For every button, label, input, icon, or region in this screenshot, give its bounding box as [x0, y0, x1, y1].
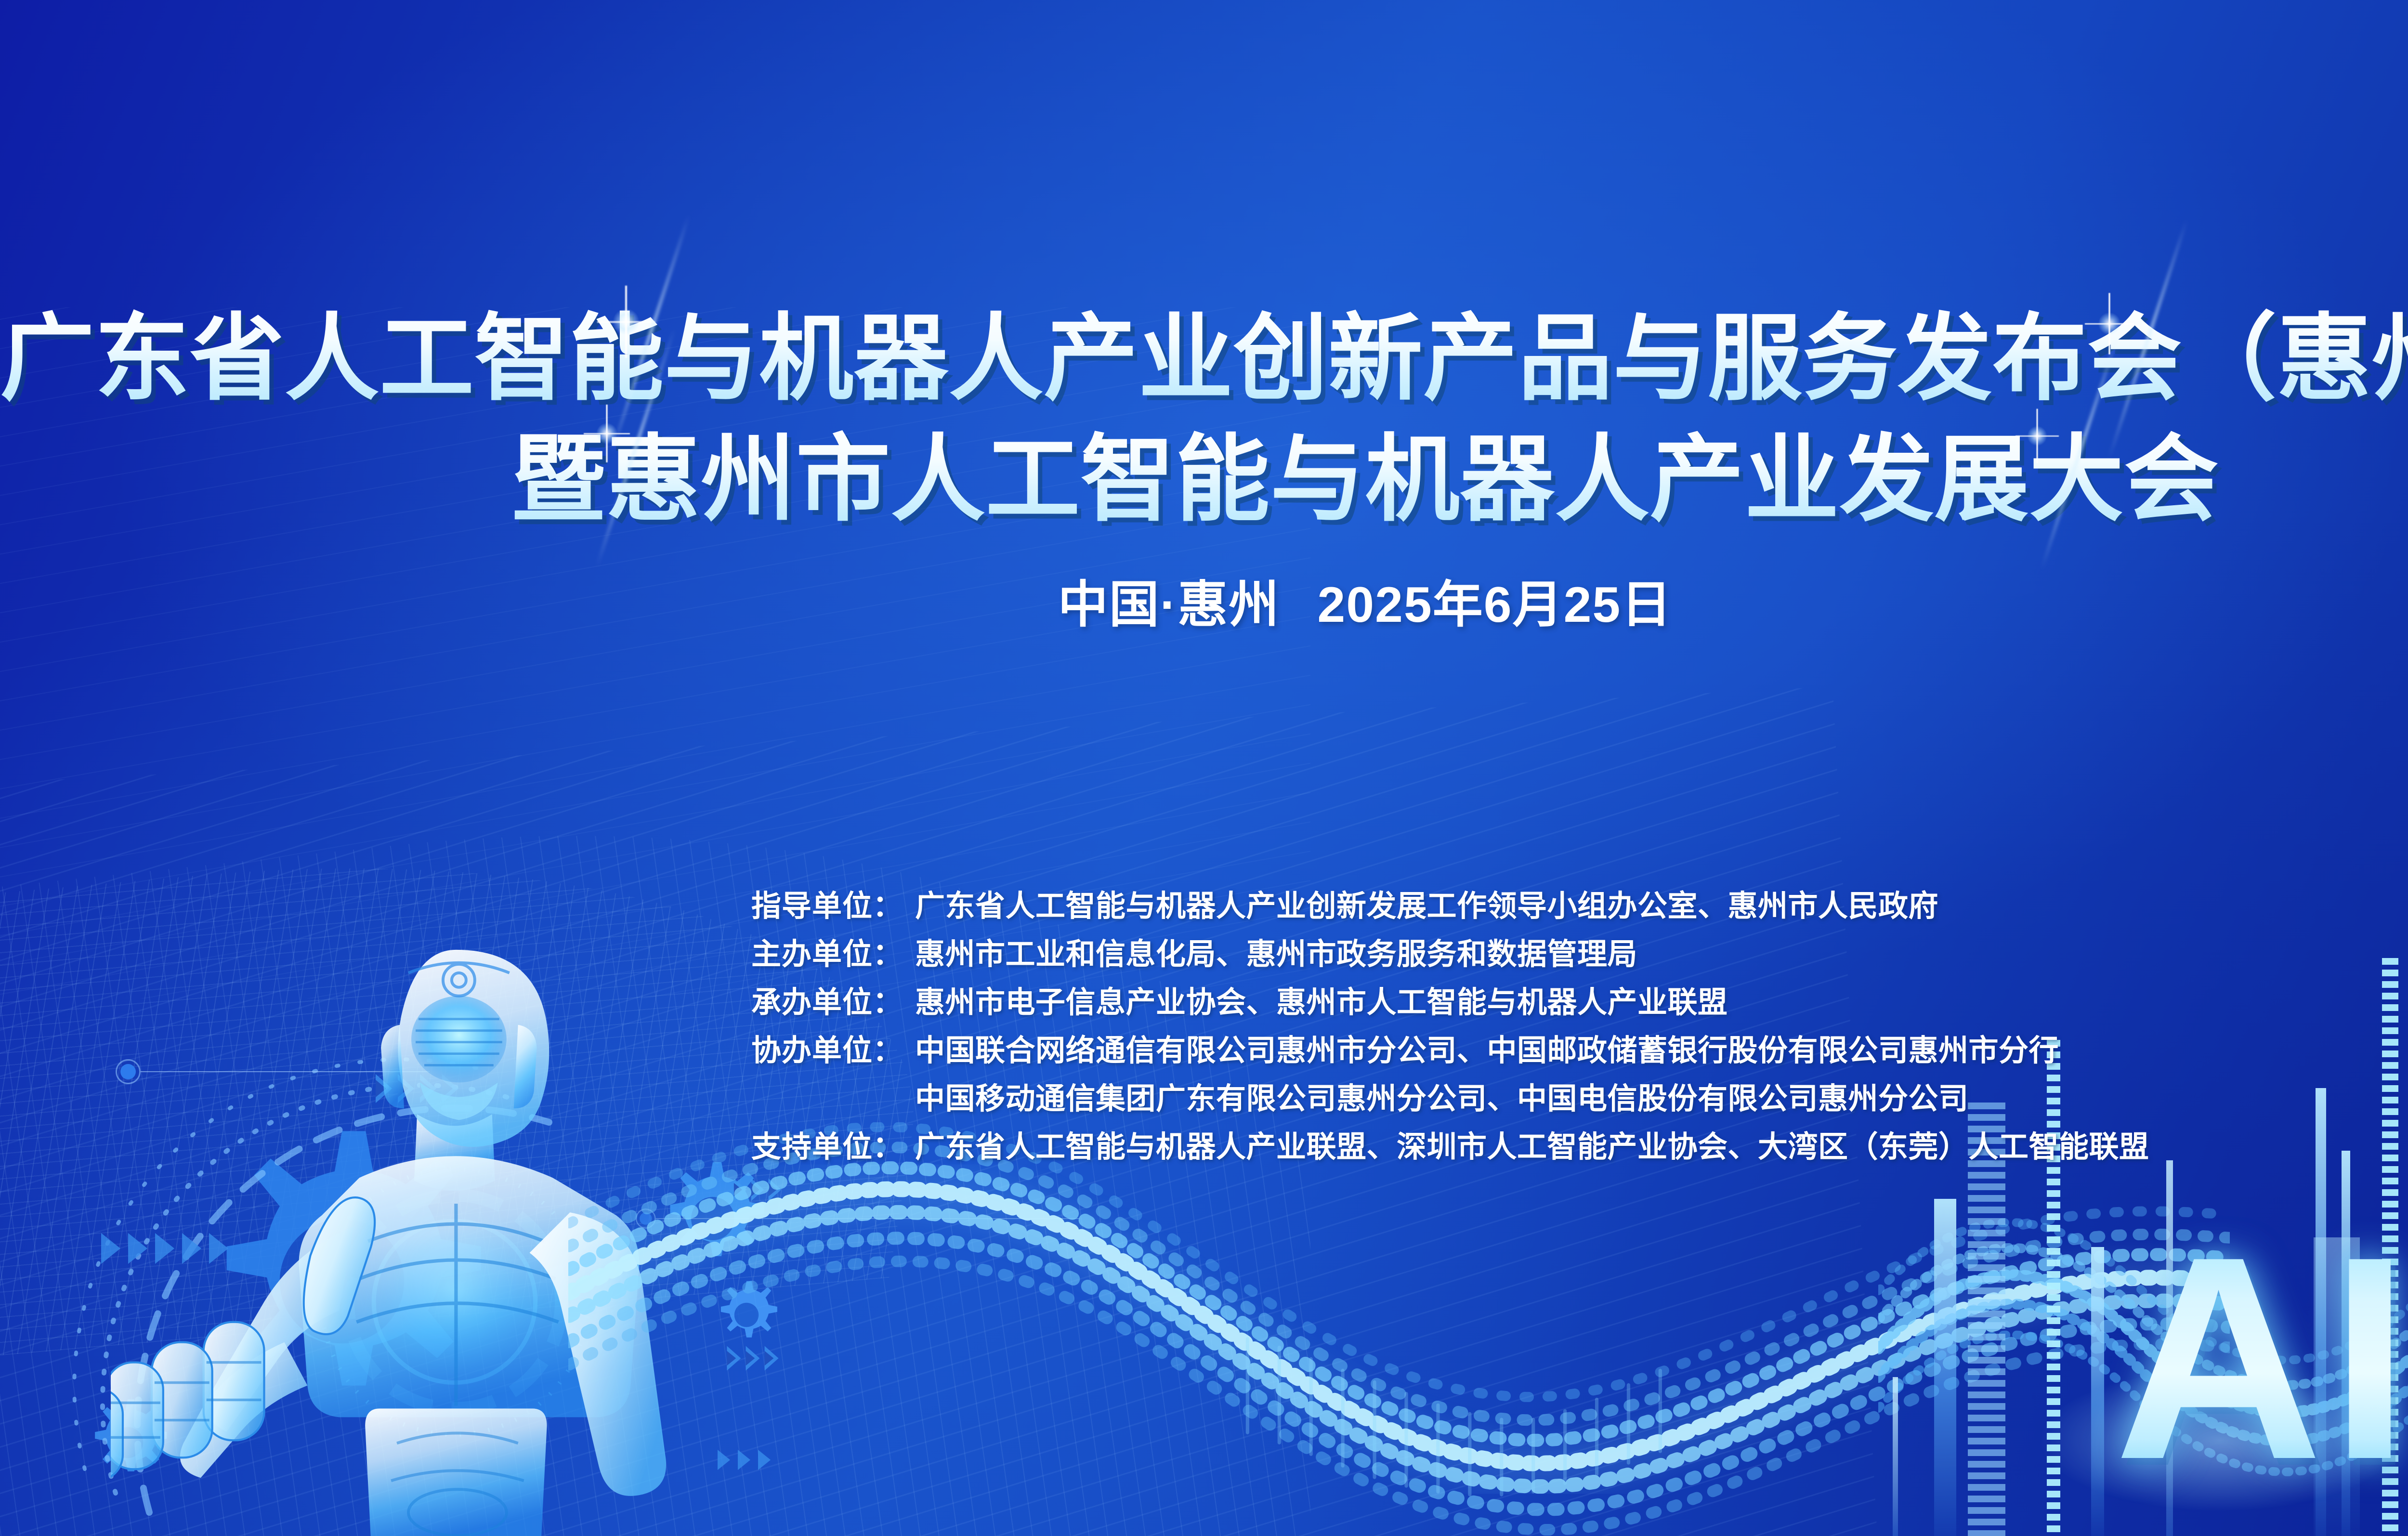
- eq-bar: [2091, 1247, 2104, 1536]
- organizer-row: 协办单位： 中国联合网络通信有限公司惠州市分公司、中国邮政储蓄银行股份有限公司惠…: [751, 1026, 2149, 1074]
- organizer-label: 支持单位：: [751, 1122, 896, 1166]
- organizer-value: 惠州市工业和信息化局、惠州市政务服务和数据管理局: [915, 930, 1637, 973]
- organizer-row: 支持单位： 广东省人工智能与机器人产业联盟、深圳市人工智能产业协会、大湾区（东莞…: [751, 1122, 2149, 1170]
- dotted-arc-decor: [58, 1031, 636, 1536]
- headline-line-1: 广东省人工智能与机器人产业创新产品与服务发布会（惠州专场）: [0, 299, 2408, 420]
- organizer-row: 承办单位： 惠州市电子信息产业协会、惠州市人工智能与机器人产业联盟: [751, 978, 2149, 1026]
- ai-logo: AI: [2114, 1214, 2408, 1503]
- organizer-row: 指导单位： 广东省人工智能与机器人产业创新发展工作领导小组办公室、惠州市人民政府: [751, 881, 2149, 930]
- organizer-label: 主办单位：: [751, 930, 896, 973]
- chevron-arrows-left: [734, 1179, 781, 1201]
- organizer-label: 承办单位：: [751, 978, 896, 1021]
- headline-line-2: 暨惠州市人工智能与机器人产业发展大会: [0, 420, 2408, 540]
- chevron-arrows-mid: [727, 1346, 778, 1371]
- organizer-list: 指导单位： 广东省人工智能与机器人产业创新发展工作领导小组办公室、惠州市人民政府…: [751, 881, 2149, 1170]
- organizer-row: 主办单位： 惠州市工业和信息化局、惠州市政务服务和数据管理局: [751, 930, 2149, 978]
- event-subtitle: 中国·惠州2025年6月25日: [0, 564, 2408, 636]
- organizer-label: 协办单位：: [751, 1026, 896, 1069]
- eq-bar: [1893, 1377, 1898, 1536]
- page-title: 广东省人工智能与机器人产业创新产品与服务发布会（惠州专场） 暨惠州市人工智能与机…: [0, 299, 2408, 540]
- gear-icon-mid: [703, 1272, 790, 1358]
- organizer-value: 广东省人工智能与机器人产业联盟、深圳市人工智能产业协会、大湾区（东莞）人工智能联…: [915, 1122, 2149, 1166]
- organizer-value: 广东省人工智能与机器人产业创新发展工作领导小组办公室、惠州市人民政府: [915, 881, 1938, 925]
- organizer-value: 中国移动通信集团广东有限公司惠州分公司、中国电信股份有限公司惠州分公司: [915, 1074, 1969, 1117]
- organizer-row-continuation: 中国移动通信集团广东有限公司惠州分公司、中国电信股份有限公司惠州分公司: [751, 1074, 2149, 1122]
- triangle-arrows-small: [718, 1450, 771, 1470]
- organizer-label: 指导单位：: [751, 881, 896, 925]
- poster-canvas: AI 广东省人工智能与机器人产业创新产品与服务发布会（惠州专场） 暨惠州市人工智…: [0, 0, 2408, 1536]
- subtitle-place: 中国·惠州: [1058, 577, 1280, 633]
- eq-bar: [1934, 1199, 1956, 1536]
- dotted-sound-wave-ribbon: [568, 1122, 2230, 1536]
- organizer-value: 中国联合网络通信有限公司惠州市分公司、中国邮政储蓄银行股份有限公司惠州市分行: [915, 1026, 2059, 1069]
- organizer-value: 惠州市电子信息产业协会、惠州市人工智能与机器人产业联盟: [915, 978, 1728, 1021]
- subtitle-date: 2025年6月25日: [1317, 577, 1672, 633]
